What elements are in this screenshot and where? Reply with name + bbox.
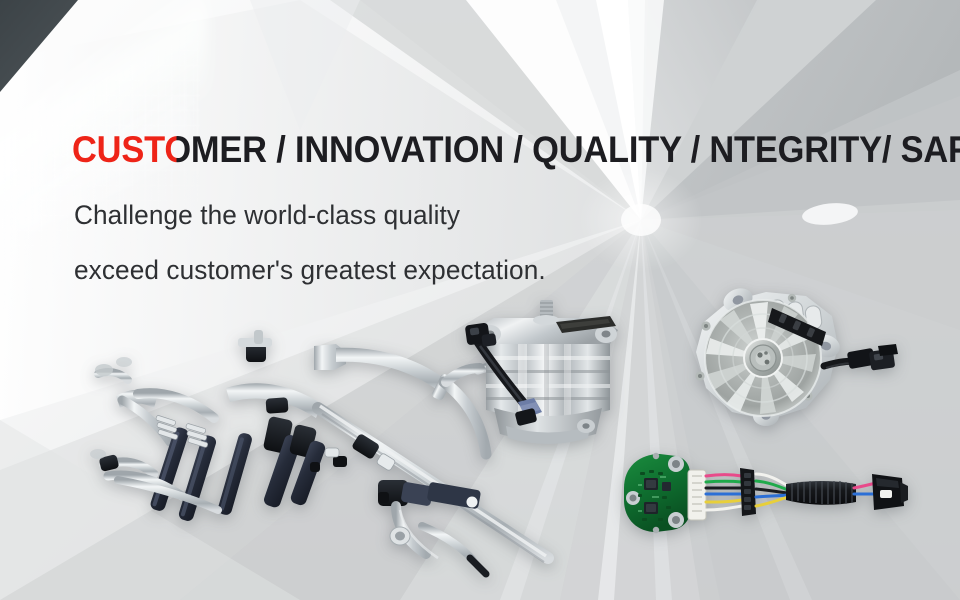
subtitle-line-1: Challenge the world-class quality (74, 200, 460, 231)
hero-banner: CUSTOMER / INNOVATION / QUALITY / NTEGRI… (0, 0, 960, 600)
headline-piece-cust: CUST (72, 129, 164, 170)
headline-word-quality: QUALITY (532, 129, 681, 170)
headline-piece-o: O (164, 129, 191, 170)
headline-word-innovation: INNOVATION (295, 129, 504, 170)
headline-separator-2: / (504, 129, 532, 170)
headline-separator-3: / (681, 129, 709, 170)
product-motor-fan-rotor-assembly (680, 280, 900, 450)
product-alternator-motor-housing (460, 300, 640, 460)
headline-word-ntegrity: NTEGRITY (709, 129, 881, 170)
headline-separator-4: / (882, 129, 901, 170)
product-sensor-pcb-wire-harness (608, 448, 908, 538)
page-title: CUSTOMER / INNOVATION / QUALITY / NTEGRI… (72, 131, 960, 168)
headline-word-safety: SAFETY (901, 129, 960, 170)
headline-piece-mer: MER (191, 129, 267, 170)
subtitle-line-2: exceed customer's greatest expectation. (74, 255, 546, 286)
headline-separator-1: / (267, 129, 295, 170)
